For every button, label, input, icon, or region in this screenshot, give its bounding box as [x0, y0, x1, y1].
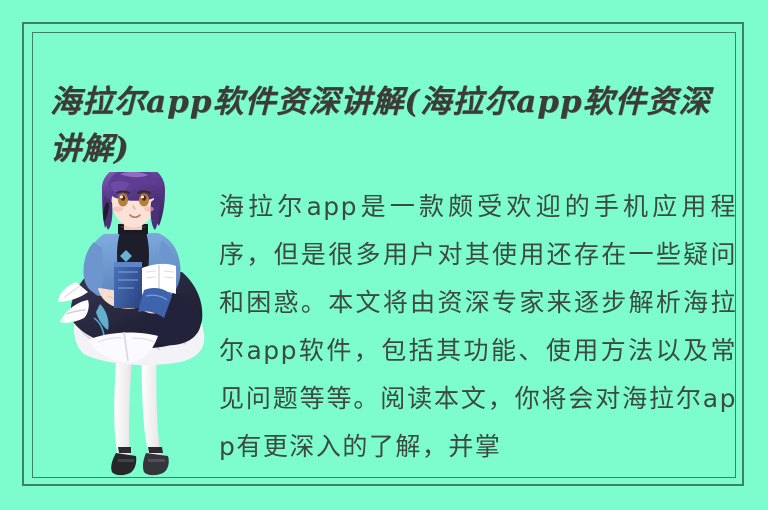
article-card: 海拉尔app软件资深讲解(海拉尔app软件资深讲解) — [0, 0, 768, 510]
page-title: 海拉尔app软件资深讲解(海拉尔app软件资深讲解) — [50, 79, 740, 173]
article-body: 海拉尔app是一款颇受欢迎的手机应用程序，但是很多用户对其使用还存在一些疑问和困… — [219, 183, 737, 473]
head-group — [102, 172, 165, 230]
shoes-group — [111, 453, 169, 475]
anime-girl-with-books-illustration — [58, 172, 222, 478]
